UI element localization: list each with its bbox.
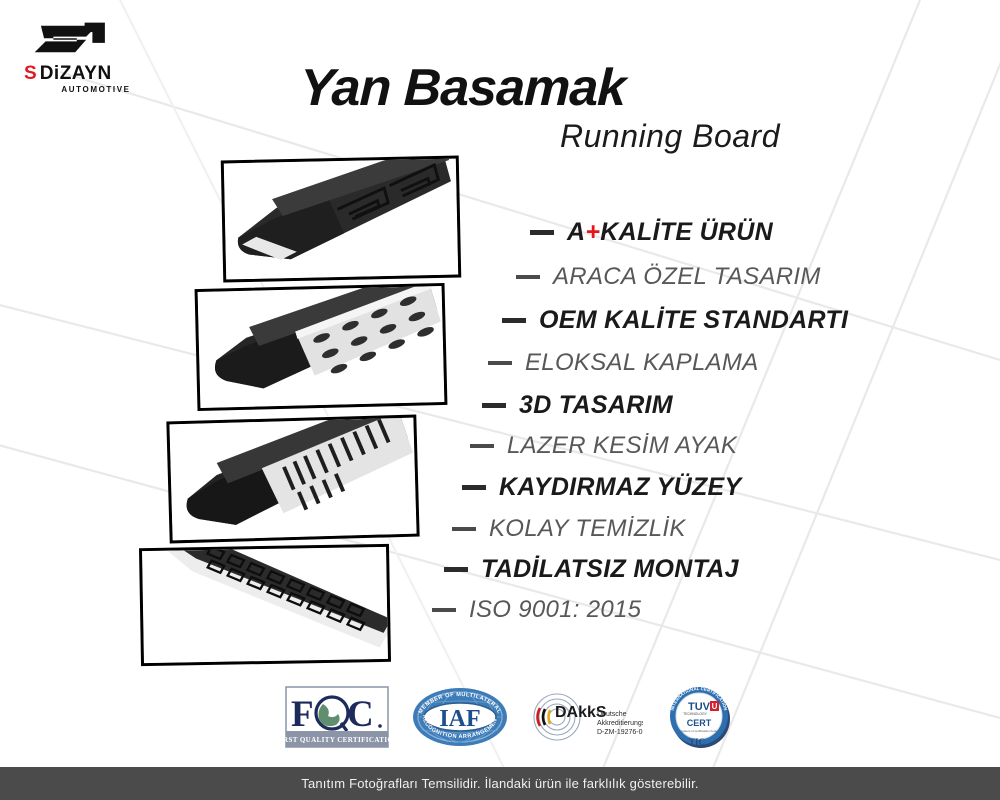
product-photo-4 [139,544,391,666]
feature-item-9: ISO 9001: 2015 [432,596,641,624]
footer-bar: Tanıtım Fotoğrafları Temsilidir. İlandak… [0,767,1000,800]
bullet-dash-icon [530,230,554,235]
tuv-bottom: TIC [689,737,705,747]
tuv-cert-certification-icon: INTERNATIONAL CERTIFICATION TUV U TECHNO… [665,683,735,751]
running-board-aluminium-slot-inserts-image [169,418,416,541]
logo-name: DiZAYN [40,64,112,83]
product-photo-2 [195,283,448,411]
ad-canvas: S DiZAYN AUTOMOTIVE Yan Basamak Running … [0,0,1000,800]
bullet-dash-icon [444,567,468,572]
feature-label-0b: KALİTE ÜRÜN [600,218,773,246]
feature-label-2: OEM KALİTE STANDARTI [539,306,848,335]
feature-label-0a: A [567,218,585,246]
feature-label-7: KOLAY TEMİZLİK [489,515,686,543]
feature-item-2: OEM KALİTE STANDARTI [502,306,848,335]
logo-tagline: AUTOMOTIVE [40,85,152,94]
bullet-dash-icon [488,361,512,365]
feature-item-0: A+KALİTE ÜRÜN [530,218,773,247]
fqc-caption: FIRST QUALITY CERTIFICATION [285,736,389,744]
running-board-black-maze-tread-image [224,159,458,280]
logo-initial: S [24,64,36,83]
feature-label-6: KAYDIRMAZ YÜZEY [499,473,741,502]
bullet-dash-icon [432,608,456,612]
tuv-small: system of certification body [681,729,718,733]
bullet-dash-icon [452,527,476,531]
feature-item-7: KOLAY TEMİZLİK [452,515,686,543]
svg-text:C: C [347,694,374,735]
dakks-certification-icon: DAkkS Deutsche Akkreditierungsstelle D-Z… [531,688,643,746]
feature-item-4: 3D TASARIM [482,391,673,420]
bullet-dash-icon [502,318,526,323]
certification-badges: F C FIRST QUALITY CERTIFICATION IAF [285,683,735,751]
footer-disclaimer: Tanıtım Fotoğrafları Temsilidir. İlandak… [301,776,699,791]
feature-item-8: TADİLATSIZ MONTAJ [444,555,739,584]
bullet-dash-icon [462,485,486,490]
product-photo-1 [221,156,462,283]
s-logo-mark-icon [30,16,108,62]
feature-item-1: ARACA ÖZEL TASARIM [516,263,821,291]
product-photo-3 [166,415,419,544]
feature-label-9: ISO 9001: 2015 [469,596,641,624]
tuv-cert-word: CERT [687,718,712,728]
bullet-dash-icon [470,444,494,448]
page-title: Yan Basamak [299,58,626,118]
feature-label-3: ELOKSAL KAPLAMA [525,349,759,377]
running-board-black-rubber-block-tread-image [142,547,388,663]
running-board-aluminium-oval-studs-image [198,286,445,408]
feature-label-4: 3D TASARIM [519,391,673,420]
page-subtitle: Running Board [560,118,780,155]
svg-text:U: U [712,702,718,711]
brand-logo: S DiZAYN AUTOMOTIVE [22,16,152,94]
fqc-certification-icon: F C FIRST QUALITY CERTIFICATION [285,686,389,748]
feature-item-3: ELOKSAL KAPLAMA [488,349,759,377]
dakks-line1: Deutsche [597,711,627,718]
dakks-line2: Akkreditierungsstelle [597,720,643,727]
feature-label-5: LAZER KESİM AYAK [507,432,737,460]
svg-text:F: F [291,694,314,735]
iaf-acronym: IAF [439,706,480,732]
feature-label-8: TADİLATSIZ MONTAJ [481,555,739,584]
feature-label-1: ARACA ÖZEL TASARIM [553,263,821,291]
tuv-sub: TECHNOLOGY [683,712,707,716]
feature-plus-accent: + [585,218,600,246]
iaf-certification-icon: IAF MEMBER OF MULTILATERAL RECOGNITION A… [411,686,509,748]
feature-item-5: LAZER KESİM AYAK [470,432,737,460]
bullet-dash-icon [482,403,506,408]
dakks-line3: D-ZM-19276-01-00 [597,729,643,736]
feature-item-6: KAYDIRMAZ YÜZEY [462,473,741,502]
feature-list: A+KALİTE ÜRÜN ARACA ÖZEL TASARIM OEM KAL… [440,218,960,598]
bullet-dash-icon [516,275,540,279]
